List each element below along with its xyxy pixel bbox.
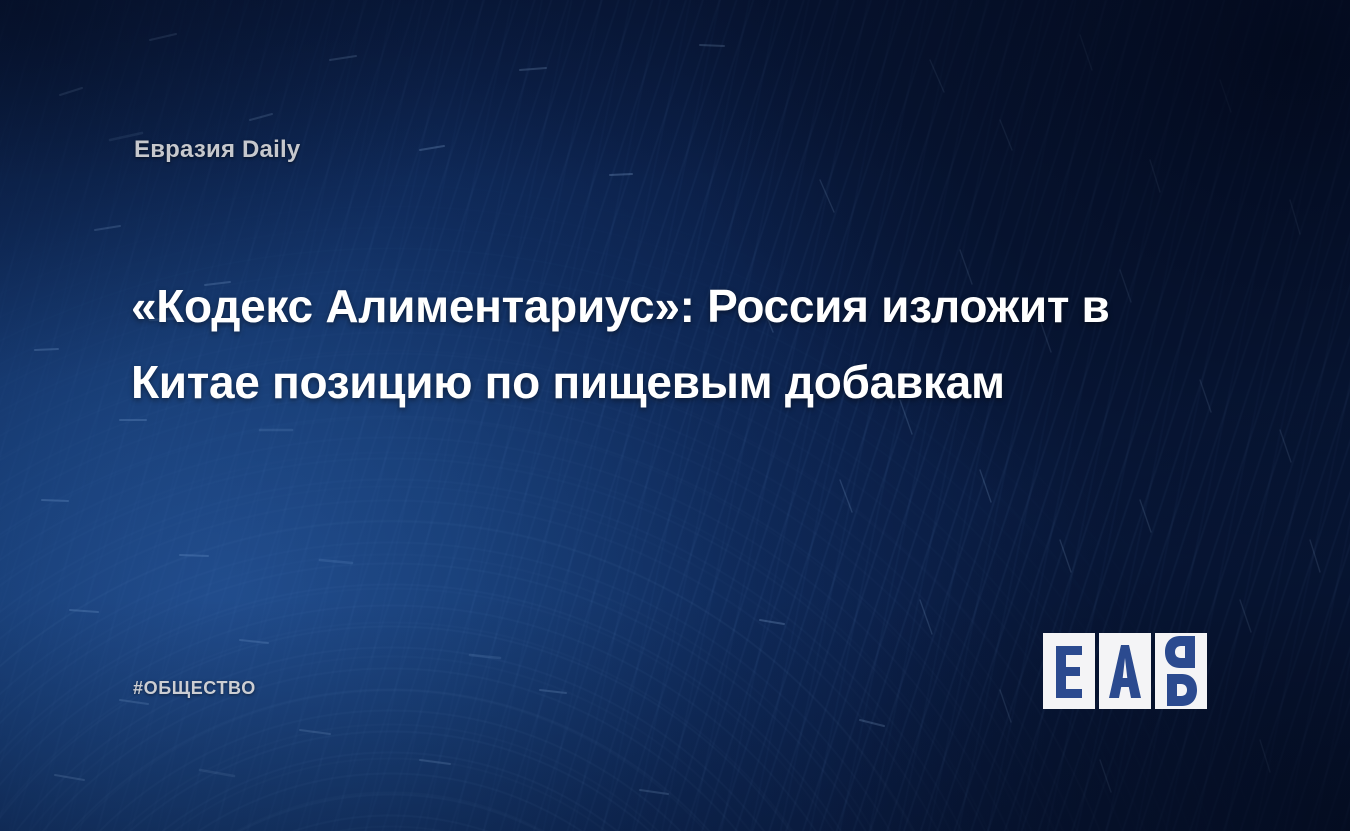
news-share-card: Евразия Daily «Кодекс Алиментариус»: Рос… — [0, 0, 1350, 831]
logo-tile-a — [1099, 633, 1151, 709]
page-title: «Кодекс Алиментариус»: Россия изложит в … — [131, 268, 1221, 420]
eadaily-logo[interactable] — [1043, 633, 1207, 709]
logo-tile-d — [1155, 633, 1207, 709]
logo-glyph-d-lower — [1155, 671, 1207, 709]
logo-tile-e — [1043, 633, 1095, 709]
site-name: Евразия Daily — [134, 136, 300, 164]
card-content: Евразия Daily «Кодекс Алиментариус»: Рос… — [0, 0, 1350, 831]
logo-glyph-d-upper — [1155, 633, 1207, 671]
category-tag: #ОБЩЕСТВО — [133, 678, 256, 699]
